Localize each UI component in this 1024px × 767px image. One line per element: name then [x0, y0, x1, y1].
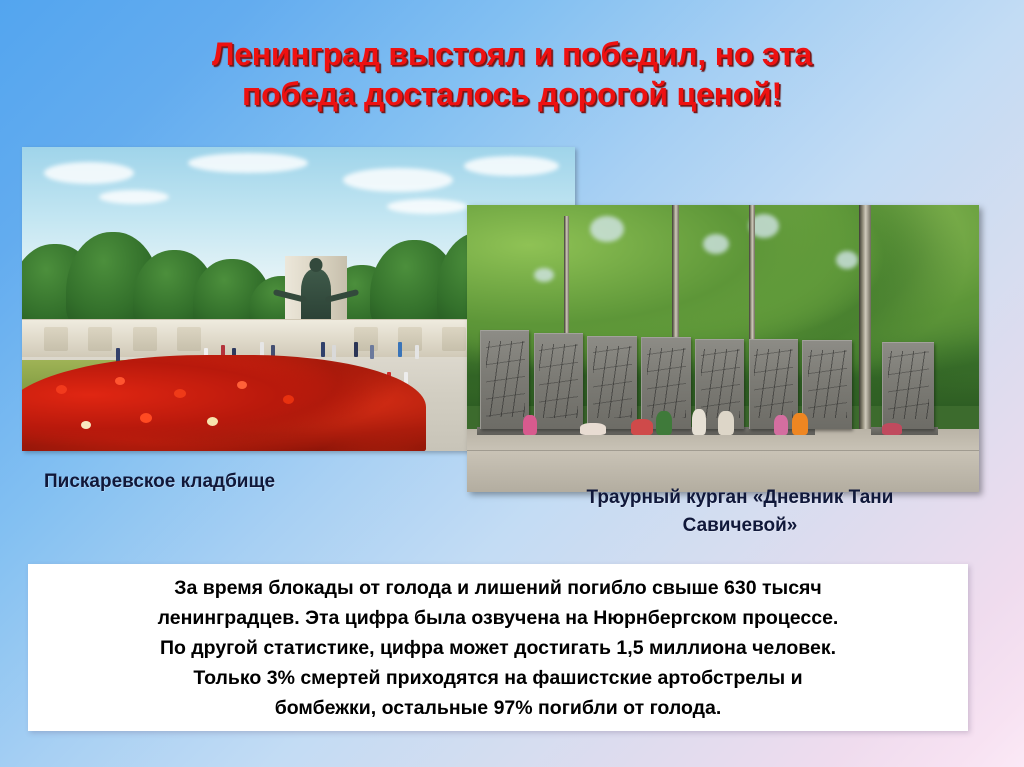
- tanya-savicheva-memorial-photo: [467, 205, 979, 492]
- caption-line-2: Савичевой»: [540, 512, 940, 540]
- body-text-panel: За время блокады от голода и лишений пог…: [28, 564, 968, 731]
- body-text: За время блокады от голода и лишений пог…: [136, 573, 861, 723]
- photo-caption-tanya-savicheva: Траурный курган «Дневник Тани Савичевой»: [540, 484, 940, 540]
- body-line-5: бомбежки, остальные 97% погибли от голод…: [158, 693, 839, 723]
- flower-bed: [22, 355, 426, 451]
- diary-inscription: [647, 348, 686, 419]
- diary-slab: [534, 333, 584, 429]
- wall-relief: [88, 327, 112, 351]
- visitor-figure: [332, 345, 336, 360]
- diary-slab: [480, 330, 530, 429]
- diary-inscription: [808, 350, 847, 418]
- diary-slab: [802, 340, 852, 429]
- flower-blossom: [207, 417, 218, 426]
- visitor-figure: [321, 342, 325, 357]
- wall-relief: [177, 327, 201, 351]
- flower-bouquet: [580, 423, 606, 435]
- page-title: Ленинград выстоял и победил, но эта побе…: [0, 34, 1024, 114]
- flower-blossom: [140, 413, 152, 423]
- birch-trunk: [749, 205, 755, 343]
- flower-bouquet: [792, 413, 808, 435]
- body-line-3: По другой статистике, цифра может достиг…: [158, 633, 839, 663]
- diary-inscription: [754, 349, 793, 418]
- flower-bouquet: [692, 409, 706, 435]
- cloud-shape: [188, 153, 308, 173]
- diary-slab: [882, 342, 934, 429]
- flower-blossom: [81, 421, 91, 429]
- birch-trunk: [859, 205, 871, 429]
- birch-trunk: [564, 216, 569, 342]
- sky-gap: [534, 268, 554, 282]
- diary-slab: [587, 336, 637, 429]
- flower-bouquet: [718, 411, 734, 435]
- visitor-figure: [415, 345, 419, 359]
- title-line-1: Ленинград выстоял и победил, но эта: [0, 34, 1024, 74]
- flower-blossom: [237, 381, 247, 389]
- caption-line-1: Траурный курган «Дневник Тани: [540, 484, 940, 512]
- cloud-shape: [99, 190, 169, 204]
- wall-relief: [44, 327, 68, 351]
- flower-bouquet: [774, 415, 788, 435]
- birch-trunk: [672, 205, 679, 349]
- cloud-shape: [387, 199, 467, 214]
- flower-bouquet: [631, 419, 653, 435]
- photo-caption-piskaryovskoye: Пискаревское кладбище: [44, 471, 275, 493]
- sky-gap: [703, 234, 729, 254]
- body-line-1: За время блокады от голода и лишений пог…: [158, 573, 839, 603]
- paved-walkway: [467, 429, 979, 492]
- title-line-2: победа досталось дорогой ценой!: [0, 74, 1024, 114]
- flower-bouquet: [656, 411, 672, 435]
- flower-blossom: [174, 389, 186, 398]
- wall-relief: [133, 327, 157, 351]
- flower-bouquet: [882, 423, 902, 435]
- body-line-2: ленинградцев. Эта цифра была озвучена на…: [158, 603, 839, 633]
- body-line-4: Только 3% смертей приходятся на фашистск…: [158, 663, 839, 693]
- visitor-figure: [398, 342, 402, 357]
- flower-blossom: [115, 377, 125, 385]
- flower-bouquet: [523, 415, 537, 435]
- flower-blossom: [56, 385, 67, 394]
- diary-inscription: [539, 344, 578, 418]
- wall-relief: [442, 327, 466, 351]
- diary-inscription: [701, 349, 740, 418]
- diary-inscription: [888, 351, 929, 418]
- visitor-figure: [370, 345, 374, 359]
- sky-gap: [836, 251, 858, 269]
- diary-inscription: [486, 341, 525, 417]
- flower-blossom: [283, 395, 294, 404]
- diary-inscription: [593, 346, 632, 418]
- diary-slab: [749, 339, 799, 429]
- visitor-figure: [354, 342, 358, 357]
